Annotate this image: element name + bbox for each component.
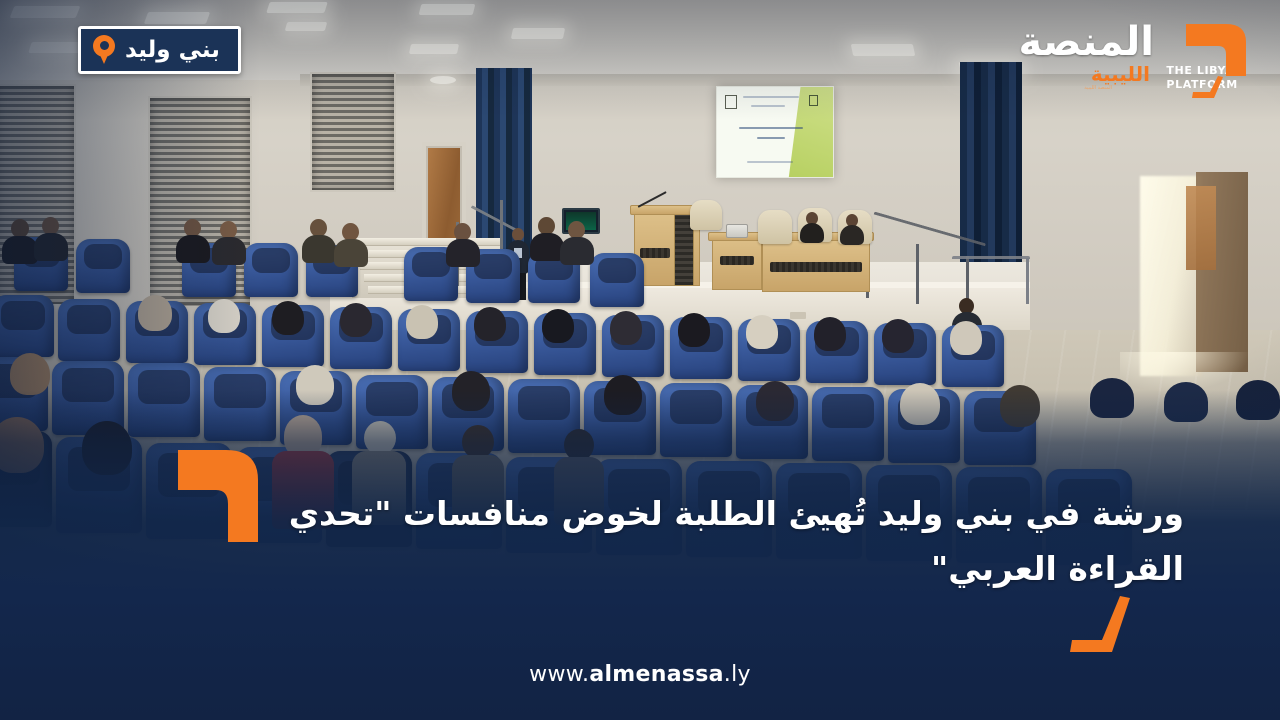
headline-foot-icon — [1068, 596, 1134, 658]
website-url[interactable]: www.almenassa.ly — [0, 662, 1280, 687]
brand-logo[interactable]: المنصة الليبية THE LIBYAN PLATFORM المنص… — [1034, 14, 1262, 100]
logo-micro-text: المنصة الليبية — [1084, 85, 1112, 91]
screenshot-canvas: بني وليد المنصة الليبية THE LIBYAN PLATF… — [0, 0, 1280, 720]
url-suffix: .ly — [724, 662, 751, 687]
location-badge[interactable]: بني وليد — [78, 26, 241, 74]
logo-hook-icon — [1174, 20, 1252, 78]
headline-text: ورشة في بني وليد تُهيئ الطلبة لخوض منافس… — [0, 486, 1232, 597]
map-pin-hole — [100, 41, 109, 50]
map-pin-icon — [93, 35, 115, 65]
headline-line-2: القراءة العربي" — [0, 541, 1184, 596]
url-prefix: www. — [529, 662, 589, 687]
logo-arabic-subtitle: الليبية — [1091, 64, 1150, 84]
headline-line-1: ورشة في بني وليد تُهيئ الطلبة لخوض منافس… — [0, 486, 1184, 541]
logo-foot-icon — [1190, 76, 1224, 100]
logo-arabic-wordmark: المنصة — [1018, 22, 1154, 62]
location-label: بني وليد — [125, 39, 220, 62]
url-name: almenassa — [589, 662, 723, 687]
